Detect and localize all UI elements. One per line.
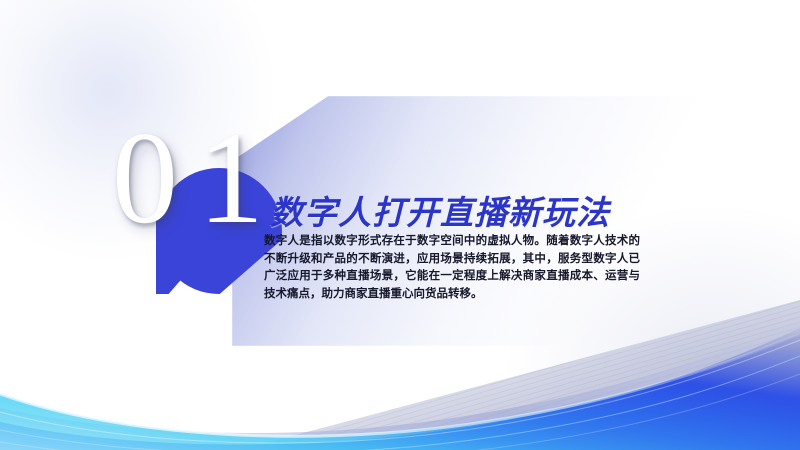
section-numeral-one: 1 xyxy=(198,112,264,244)
bottom-wave-artwork xyxy=(0,290,800,450)
presentation-slide: 0 1 数字人打开直播新玩法 数字人是指以数字形式存在于数字空间中的虚拟人物。随… xyxy=(0,0,800,450)
wave-svg xyxy=(0,290,800,450)
slide-headline: 数字人打开直播新玩法 xyxy=(270,186,610,234)
section-numeral-zero: 0 xyxy=(112,112,178,244)
